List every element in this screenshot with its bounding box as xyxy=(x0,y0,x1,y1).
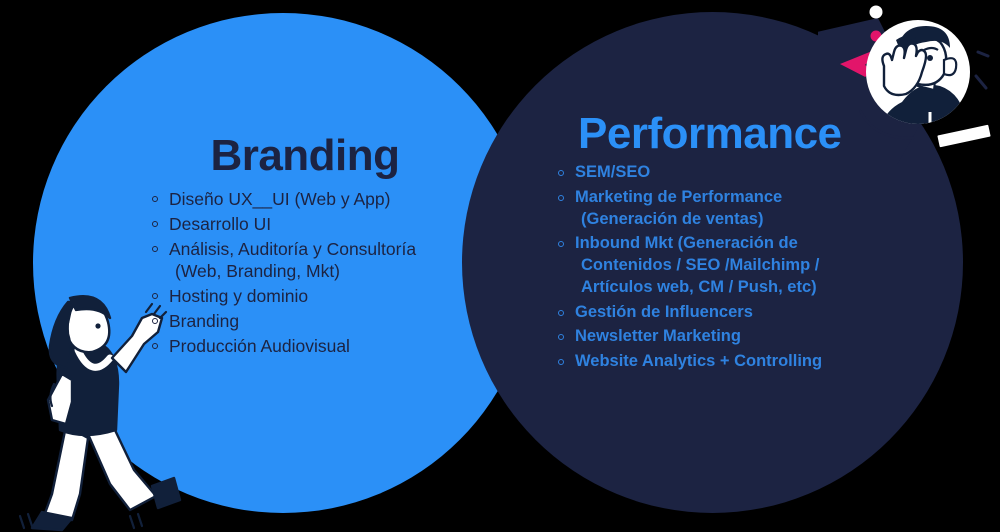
list-item: Branding xyxy=(150,310,460,333)
list-item: Marketing de Performance (Generación de … xyxy=(556,187,886,231)
decorative-bars-icon xyxy=(937,125,990,148)
performance-title: Performance xyxy=(556,112,886,156)
list-item-text: Newsletter Marketing xyxy=(575,327,741,345)
bullet-icon xyxy=(152,293,158,299)
bullet-icon xyxy=(558,241,564,247)
bullet-icon xyxy=(558,359,564,365)
list-item-text: Branding xyxy=(169,311,239,331)
list-item: Análisis, Auditoría y Consultoría (Web, … xyxy=(150,238,460,284)
white-dot-icon xyxy=(870,6,883,19)
list-item-text: Inbound Mkt (Generación de xyxy=(575,234,798,252)
list-item-text: Análisis, Auditoría y Consultoría xyxy=(169,239,416,259)
bullet-icon xyxy=(558,334,564,340)
bullet-icon xyxy=(152,318,158,324)
bullet-icon xyxy=(152,246,158,252)
list-item-text: Marketing de Performance xyxy=(575,188,782,206)
list-item-text: Website Analytics + Controlling xyxy=(575,352,822,370)
list-item-text: Producción Audiovisual xyxy=(169,336,350,356)
branding-service-list: Diseño UX__UI (Web y App) Desarrollo UI … xyxy=(150,188,460,357)
list-item: Producción Audiovisual xyxy=(150,335,460,358)
branding-panel: Branding Diseño UX__UI (Web y App) Desar… xyxy=(150,134,460,359)
list-item-text: SEM/SEO xyxy=(575,163,650,181)
performance-service-list: SEM/SEO Marketing de Performance (Genera… xyxy=(556,162,886,373)
list-item-text: Hosting y dominio xyxy=(169,286,308,306)
list-item-continuation: Contenidos / SEO /Mailchimp / Artículos … xyxy=(575,255,886,299)
bullet-icon xyxy=(152,196,158,202)
list-item: Hosting y dominio xyxy=(150,285,460,308)
list-item: Desarrollo UI xyxy=(150,213,460,236)
list-item: SEM/SEO xyxy=(556,162,886,184)
bullet-icon xyxy=(558,195,564,201)
decorative-dashes-icon xyxy=(976,52,988,88)
list-item-continuation: (Web, Branding, Mkt) xyxy=(169,260,460,283)
list-item: Diseño UX__UI (Web y App) xyxy=(150,188,460,211)
list-item-continuation: (Generación de ventas) xyxy=(575,209,886,231)
infographic-canvas: Branding Diseño UX__UI (Web y App) Desar… xyxy=(0,0,1000,532)
list-item-text: Desarrollo UI xyxy=(169,214,271,234)
performance-panel: Performance SEM/SEO Marketing de Perform… xyxy=(556,112,886,376)
list-item-text: Gestión de Influencers xyxy=(575,303,753,321)
list-item: Website Analytics + Controlling xyxy=(556,351,886,373)
list-item: Inbound Mkt (Generación de Contenidos / … xyxy=(556,233,886,298)
bullet-icon xyxy=(558,170,564,176)
bullet-icon xyxy=(558,310,564,316)
bullet-icon xyxy=(152,343,158,349)
list-item: Gestión de Influencers xyxy=(556,302,886,324)
branding-title: Branding xyxy=(150,134,460,178)
list-item: Newsletter Marketing xyxy=(556,326,886,348)
list-item-text: Diseño UX__UI (Web y App) xyxy=(169,189,390,209)
bullet-icon xyxy=(152,221,158,227)
